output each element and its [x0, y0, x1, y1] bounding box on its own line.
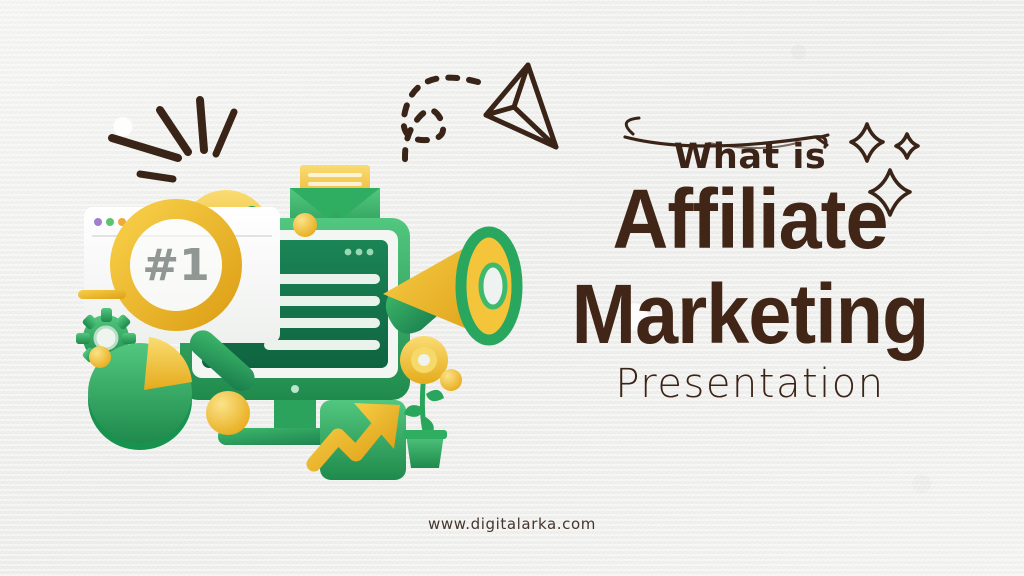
- coin-dot-small-right: [440, 369, 462, 391]
- title-line-2: Marketing: [557, 276, 943, 353]
- coin-dot-small-left: [89, 346, 111, 368]
- gear-icon: [76, 308, 136, 368]
- megaphone-icon: [383, 232, 517, 340]
- burst-lines-icon: [100, 92, 250, 222]
- check-circle-icon: [181, 190, 271, 280]
- pie-chart-icon: [88, 337, 192, 450]
- subtitle-text: Presentation: [540, 364, 960, 404]
- dashed-loop-icon: [378, 58, 498, 178]
- footer-url[interactable]: www.digitalarka.com: [0, 515, 1024, 533]
- title-line-1: Affiliate: [557, 181, 943, 258]
- presentation-slide: #1: [0, 0, 1024, 576]
- growth-chart-tile: [314, 400, 406, 480]
- monitor-content-lines: [264, 274, 380, 350]
- browser-window-card: [84, 207, 280, 343]
- eyebrow-text: What is: [540, 140, 960, 175]
- monitor-icon: [180, 218, 410, 445]
- envelope-icon: [290, 165, 380, 250]
- headline-block: What is Affiliate Marketing Presentation: [540, 110, 960, 404]
- rank-badge-text: #1: [142, 240, 209, 291]
- coin-dot-small-top: [293, 213, 317, 237]
- illustration-cluster: #1: [52, 60, 562, 490]
- flower-pot-icon: [400, 336, 448, 468]
- coin-dot-large: [206, 391, 250, 435]
- magnifier-badge-icon: #1: [78, 209, 260, 397]
